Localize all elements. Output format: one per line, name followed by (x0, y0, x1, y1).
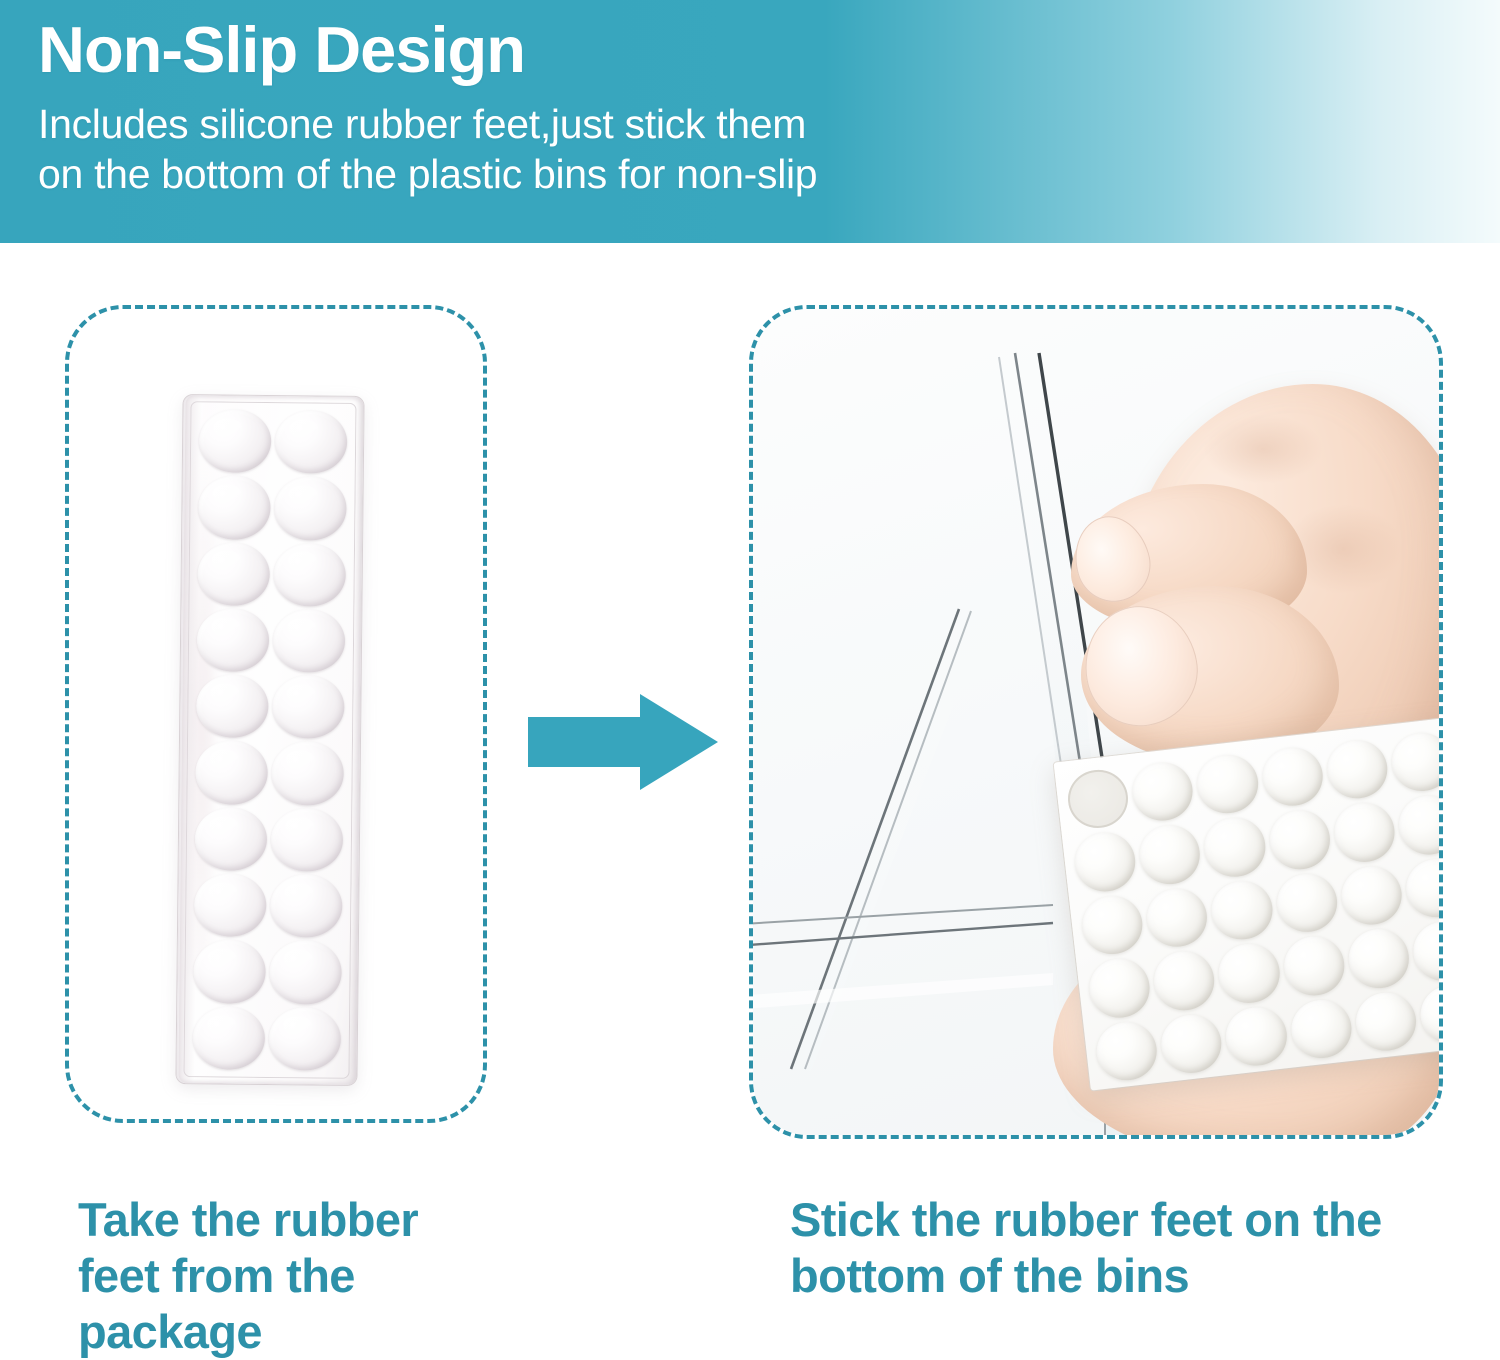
clear-dome-foot (272, 675, 345, 739)
clear-dome-foot (273, 609, 346, 673)
left-step-caption: Take the rubber feet from the package (78, 1192, 508, 1360)
clear-dome-feet-grid (193, 409, 348, 1071)
clear-dome-foot (193, 940, 266, 1004)
clear-dome-foot (195, 741, 268, 805)
clear-dome-foot (199, 409, 272, 473)
right-step-caption: Stick the rubber feet on the bottom of t… (790, 1192, 1450, 1304)
clear-dome-foot (271, 808, 344, 872)
blister-pack-photo (176, 395, 363, 1085)
clear-dome-foot (273, 543, 346, 607)
header-subtitle-line-1: Includes silicone rubber feet,just stick… (38, 99, 1500, 149)
clear-dome-foot (271, 742, 344, 806)
clear-dome-foot (195, 807, 268, 871)
right-photo-frame (749, 305, 1443, 1139)
clear-dome-foot (269, 1007, 342, 1071)
header-subtitle-line-2: on the bottom of the plastic bins for no… (38, 149, 1500, 199)
header-banner: Non-Slip Design Includes silicone rubber… (0, 0, 1500, 243)
clear-dome-foot (196, 674, 269, 738)
clear-dome-foot (274, 476, 347, 540)
page-title: Non-Slip Design (38, 10, 1500, 90)
clear-dome-foot (198, 476, 271, 540)
clear-dome-foot (197, 542, 270, 606)
right-arrow-icon (528, 694, 718, 790)
clear-dome-foot (270, 874, 343, 938)
header-banner-content: Non-Slip Design Includes silicone rubber… (38, 10, 1500, 199)
clear-dome-foot (193, 1006, 266, 1070)
clear-dome-foot (194, 873, 267, 937)
clear-dome-foot (269, 940, 342, 1004)
clear-dome-foot (275, 410, 348, 474)
clear-dome-foot (197, 608, 270, 672)
header-subtitle: Includes silicone rubber feet,just stick… (38, 99, 1500, 199)
